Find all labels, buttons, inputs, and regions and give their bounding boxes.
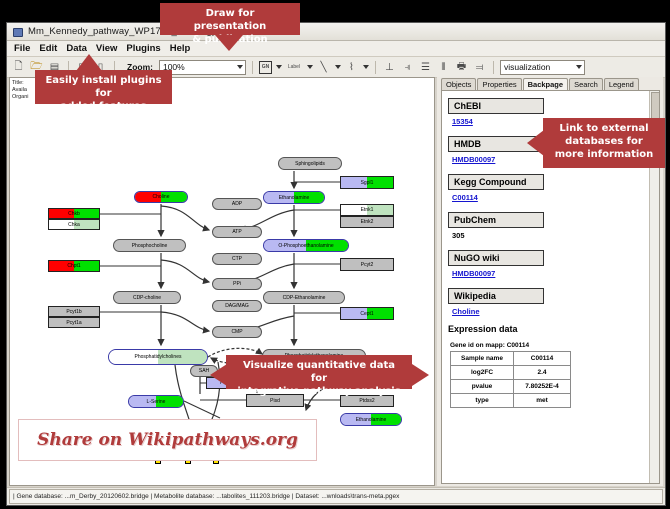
menu-item-file[interactable]: File bbox=[14, 43, 30, 54]
node-label: Sphingolipids bbox=[295, 161, 325, 167]
metabolite-node-lserine-left[interactable]: L-Serine bbox=[128, 395, 184, 408]
gene-node-pcyt1b[interactable]: Pcyt1b bbox=[48, 306, 100, 317]
menu-item-edit[interactable]: Edit bbox=[39, 43, 57, 54]
table-row: Sample nameC00114 bbox=[451, 352, 571, 366]
status-bar: | Gene database: ...m_Derby_20120602.bri… bbox=[7, 487, 665, 505]
node-label: Chpt1 bbox=[67, 263, 80, 269]
toolbar-separator-3 bbox=[252, 61, 253, 74]
chevron-down-icon bbox=[576, 65, 582, 69]
node-label: Chkb bbox=[68, 211, 80, 217]
node-label: Phosphocholine bbox=[132, 243, 168, 249]
callout-links-line3: more information bbox=[551, 148, 657, 161]
node-label: Etnk1 bbox=[361, 207, 374, 213]
datanode-dropdown-icon[interactable] bbox=[276, 65, 282, 69]
db-section-header-chebi: ChEBI bbox=[448, 98, 544, 114]
anchor-dropdown-icon[interactable] bbox=[363, 65, 369, 69]
menu-item-view[interactable]: View bbox=[96, 43, 117, 54]
db-link-kegg-compound[interactable]: C00114 bbox=[452, 193, 649, 202]
node-label: CDP-Ethanolamine bbox=[283, 295, 326, 301]
menu-item-data[interactable]: Data bbox=[66, 43, 87, 54]
callout-links-line2: databases for bbox=[551, 135, 657, 148]
node-label: Phosphatidylcholines bbox=[135, 354, 182, 360]
status-bar-inner: | Gene database: ...m_Derby_20120602.bri… bbox=[9, 489, 663, 504]
table-cell-key: type bbox=[451, 394, 514, 408]
callout-visualize-line2: integrative pathway analysis bbox=[234, 385, 404, 398]
node-label: Pisd bbox=[270, 398, 280, 404]
callout-draw-for-publication: Draw for presentation & publication bbox=[160, 3, 300, 35]
node-label: Ethanolamine bbox=[356, 417, 387, 423]
order-left-icon[interactable]: ⫣ bbox=[400, 60, 415, 75]
node-label: Sgpl1 bbox=[361, 180, 374, 186]
gene-node-etnk2[interactable]: Etnk2 bbox=[340, 216, 394, 228]
node-label: Ethanolamine bbox=[279, 195, 310, 201]
order-icon[interactable]: ⫤ bbox=[472, 60, 487, 75]
metabolite-node-cdpcholine[interactable]: CDP-choline bbox=[113, 291, 181, 304]
node-label: ATP bbox=[232, 229, 241, 235]
table-cell-value: 7.80252E-4 bbox=[514, 380, 571, 394]
new-icon[interactable]: 🗋 bbox=[11, 60, 26, 75]
metabolite-node-ophosphoethanolamine[interactable]: O-Phosphoethanolamine bbox=[263, 239, 349, 252]
node-label: Cept1 bbox=[360, 311, 373, 317]
gene-node-sgpl1[interactable]: Sgpl1 bbox=[340, 176, 394, 189]
align-icon[interactable]: ⊥ bbox=[382, 60, 397, 75]
screenshot-root: Mm_Kennedy_pathway_WP1771_45176.gpml Fil… bbox=[0, 0, 670, 509]
tab-properties[interactable]: Properties bbox=[477, 78, 521, 90]
db-link-wikipedia[interactable]: Choline bbox=[452, 307, 649, 316]
db-section-header-nugo-wiki: NuGO wiki bbox=[448, 250, 544, 266]
callout-visualize-arrow-icon bbox=[210, 364, 227, 386]
line-dropdown-icon[interactable] bbox=[335, 65, 341, 69]
title-bar: Mm_Kennedy_pathway_WP1771_45176.gpml bbox=[7, 23, 665, 41]
datanode-icon[interactable]: GN bbox=[259, 61, 272, 74]
db-section-header-wikipedia: Wikipedia bbox=[448, 288, 544, 304]
gene-node-cept1[interactable]: Cept1 bbox=[340, 307, 394, 320]
callout-draw-line1: Draw for presentation bbox=[168, 7, 292, 33]
callout-links-line1: Link to external bbox=[551, 122, 657, 135]
callout-draw-arrow-icon bbox=[215, 35, 243, 51]
table-cell-value: 2.4 bbox=[514, 366, 571, 380]
gene-id-line: Gene id on mapp: C00114 bbox=[450, 342, 649, 349]
print-icon[interactable]: 🖶 bbox=[454, 60, 469, 75]
metabolite-node-dagmag[interactable]: DAG/MAG bbox=[212, 300, 262, 312]
label-dropdown-icon[interactable] bbox=[307, 65, 313, 69]
node-label: SAH bbox=[199, 368, 209, 374]
node-label: Pcyt1a bbox=[66, 320, 81, 326]
callout-external-links: Link to external databases for more info… bbox=[543, 118, 665, 168]
menu-bar[interactable]: File Edit Data View Plugins Help bbox=[7, 41, 665, 57]
gene-node-chka[interactable]: Chka bbox=[48, 219, 100, 230]
callout-plugins-arrow-icon bbox=[76, 54, 102, 71]
metabolite-node-ctp[interactable]: CTP bbox=[212, 253, 262, 265]
node-label: Choline bbox=[153, 194, 170, 200]
tab-legend[interactable]: Legend bbox=[604, 78, 639, 90]
expression-table: Sample nameC00114log2FC2.4pvalue7.80252E… bbox=[450, 351, 571, 408]
zoom-combo[interactable]: 100% bbox=[159, 60, 246, 75]
node-label: L-Serine bbox=[147, 399, 166, 405]
table-cell-key: log2FC bbox=[451, 366, 514, 380]
metabolite-node-atp[interactable]: ATP bbox=[212, 226, 262, 238]
chevron-down-icon bbox=[237, 65, 243, 69]
db-section-header-kegg-compound: Kegg Compound bbox=[448, 174, 544, 190]
callout-install-plugins: Easily install plugins for added feature… bbox=[35, 70, 172, 104]
toolbar-separator-5 bbox=[493, 61, 494, 74]
callout-share-text: Share on Wikipathways.org bbox=[37, 430, 298, 450]
node-label: Pcyt2 bbox=[361, 262, 374, 268]
callout-visualize-data: Visualize quantitative data for integrat… bbox=[226, 355, 412, 389]
node-label: O-Phosphoethanolamine bbox=[278, 243, 333, 249]
metabolite-node-cdpethanolamine[interactable]: CDP-Ethanolamine bbox=[263, 291, 345, 304]
label-icon[interactable]: Label bbox=[285, 60, 303, 75]
node-label: Etnk2 bbox=[361, 219, 374, 225]
side-panel-tabs[interactable]: Objects Properties Backpage Search Legen… bbox=[437, 77, 663, 90]
tab-objects[interactable]: Objects bbox=[441, 78, 476, 90]
table-row: log2FC2.4 bbox=[451, 366, 571, 380]
node-label: CMP bbox=[231, 329, 242, 335]
expression-data-title: Expression data bbox=[448, 324, 649, 334]
callout-visualize-arrow-right-icon bbox=[412, 364, 429, 386]
visualization-value: visualization bbox=[504, 62, 550, 72]
visualization-combo[interactable]: visualization bbox=[500, 60, 585, 75]
tab-backpage[interactable]: Backpage bbox=[523, 78, 568, 90]
metabolite-node-phosphocholine[interactable]: Phosphocholine bbox=[113, 239, 186, 252]
metabolite-node-ethanolamine2[interactable]: Ethanolamine bbox=[340, 413, 402, 426]
node-label: Ptdss2 bbox=[359, 398, 374, 404]
node-label: CDP-choline bbox=[133, 295, 161, 301]
stack-icon[interactable]: ☰ bbox=[418, 60, 433, 75]
distribute-icon[interactable]: ⦀ bbox=[436, 60, 451, 75]
app-icon bbox=[12, 26, 23, 37]
metabolite-node-ethanolamine[interactable]: Ethanolamine bbox=[263, 191, 325, 204]
node-label: ADP bbox=[232, 201, 242, 207]
metabolite-node-phosphatidylcholines[interactable]: Phosphatidylcholines bbox=[108, 349, 208, 365]
db-value-pubchem: 305 bbox=[452, 231, 649, 240]
table-row: pvalue7.80252E-4 bbox=[451, 380, 571, 394]
table-row: typemet bbox=[451, 394, 571, 408]
db-section-header-pubchem: PubChem bbox=[448, 212, 544, 228]
node-label: Pcyt1b bbox=[66, 309, 81, 315]
table-cell-key: Sample name bbox=[451, 352, 514, 366]
node-label: CTP bbox=[232, 256, 242, 262]
callout-visualize-line1: Visualize quantitative data for bbox=[234, 359, 404, 385]
line-icon[interactable]: ╲ bbox=[316, 60, 331, 75]
metabolite-node-adp[interactable]: ADP bbox=[212, 198, 262, 210]
node-label: PPi bbox=[233, 281, 241, 287]
status-bar-text: | Gene database: ...m_Derby_20120602.bri… bbox=[13, 493, 399, 500]
anchor-icon[interactable]: ⌇ bbox=[344, 60, 359, 75]
node-label: Chka bbox=[68, 222, 80, 228]
menu-item-plugins[interactable]: Plugins bbox=[126, 43, 160, 54]
metabolite-node-ppi[interactable]: PPi bbox=[212, 278, 262, 290]
gene-node-pcyt2[interactable]: Pcyt2 bbox=[340, 258, 394, 271]
metabolite-node-sphingolipids[interactable]: Sphingolipids bbox=[278, 157, 342, 170]
callout-share-wikipathways: Share on Wikipathways.org bbox=[18, 419, 317, 461]
toolbar-separator-4 bbox=[375, 61, 376, 74]
gene-node-chpt1[interactable]: Chpt1 bbox=[48, 260, 100, 272]
callout-links-arrow-icon bbox=[527, 130, 544, 156]
table-cell-value: C00114 bbox=[514, 352, 571, 366]
callout-plugins-line2: added features bbox=[43, 100, 164, 113]
metabolite-node-cmp[interactable]: CMP bbox=[212, 326, 262, 338]
table-cell-value: met bbox=[514, 394, 571, 408]
metabolite-node-choline[interactable]: Choline bbox=[134, 191, 188, 203]
gene-node-etnk1[interactable]: Etnk1 bbox=[340, 204, 394, 216]
callout-plugins-line1: Easily install plugins for bbox=[43, 74, 164, 100]
tab-search[interactable]: Search bbox=[569, 78, 603, 90]
gene-node-pcyt1a[interactable]: Pcyt1a bbox=[48, 317, 100, 328]
db-link-nugo-wiki[interactable]: HMDB00097 bbox=[452, 269, 649, 278]
table-cell-key: pvalue bbox=[451, 380, 514, 394]
gene-node-chkb[interactable]: Chkb bbox=[48, 208, 100, 219]
node-label: DAG/MAG bbox=[225, 303, 249, 309]
